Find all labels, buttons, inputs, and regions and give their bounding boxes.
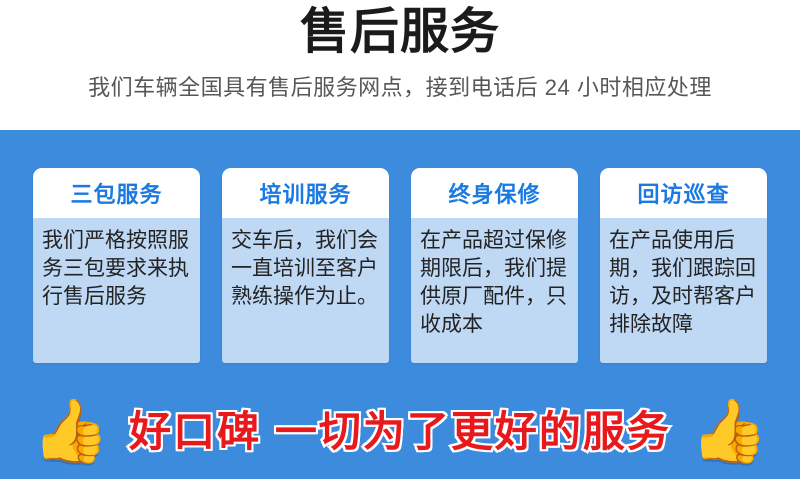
header-section: 售后服务 我们车辆全国具有售后服务网点，接到电话后 24 小时相应处理	[0, 0, 800, 130]
service-card[interactable]: 终身保修 在产品超过保修期限后，我们提供原厂配件，只收成本	[411, 168, 578, 363]
service-card-header: 回访巡查	[600, 168, 767, 218]
service-card-title: 三包服务	[70, 177, 162, 209]
service-cards-row: 三包服务 我们严格按照服务三包要求来执行售后服务 培训服务 交车后，我们会一直培…	[33, 168, 767, 363]
blue-content-area: 三包服务 我们严格按照服务三包要求来执行售后服务 培训服务 交车后，我们会一直培…	[0, 130, 800, 479]
service-card[interactable]: 培训服务 交车后，我们会一直培训至客户熟练操作为止。	[222, 168, 389, 363]
service-card-header: 三包服务	[33, 168, 200, 218]
service-card[interactable]: 回访巡查 在产品使用后期，我们跟踪回访，及时帮客户排除故障	[600, 168, 767, 363]
service-card-title: 终身保修	[448, 177, 540, 209]
thumbs-up-icon: 👍	[32, 401, 109, 463]
service-card-title: 回访巡查	[637, 177, 729, 209]
service-card-title: 培训服务	[259, 177, 351, 209]
page-title: 售后服务	[300, 2, 500, 62]
service-card-body: 我们严格按照服务三包要求来执行售后服务	[33, 218, 200, 363]
slogan-banner: 👍 好口碑 一切为了更好的服务 👍	[0, 385, 800, 479]
service-card-header: 培训服务	[222, 168, 389, 218]
service-card-body: 在产品使用后期，我们跟踪回访，及时帮客户排除故障	[600, 218, 767, 363]
service-card-body: 在产品超过保修期限后，我们提供原厂配件，只收成本	[411, 218, 578, 363]
service-card-body: 交车后，我们会一直培训至客户熟练操作为止。	[222, 218, 389, 363]
service-card-header: 终身保修	[411, 168, 578, 218]
service-card[interactable]: 三包服务 我们严格按照服务三包要求来执行售后服务	[33, 168, 200, 363]
page-subtitle: 我们车辆全国具有售后服务网点，接到电话后 24 小时相应处理	[88, 74, 712, 102]
after-sales-service-poster: 售后服务 我们车辆全国具有售后服务网点，接到电话后 24 小时相应处理 三包服务…	[0, 0, 800, 479]
thumbs-up-icon: 👍	[691, 401, 768, 463]
slogan-text: 好口碑 一切为了更好的服务	[129, 407, 671, 457]
